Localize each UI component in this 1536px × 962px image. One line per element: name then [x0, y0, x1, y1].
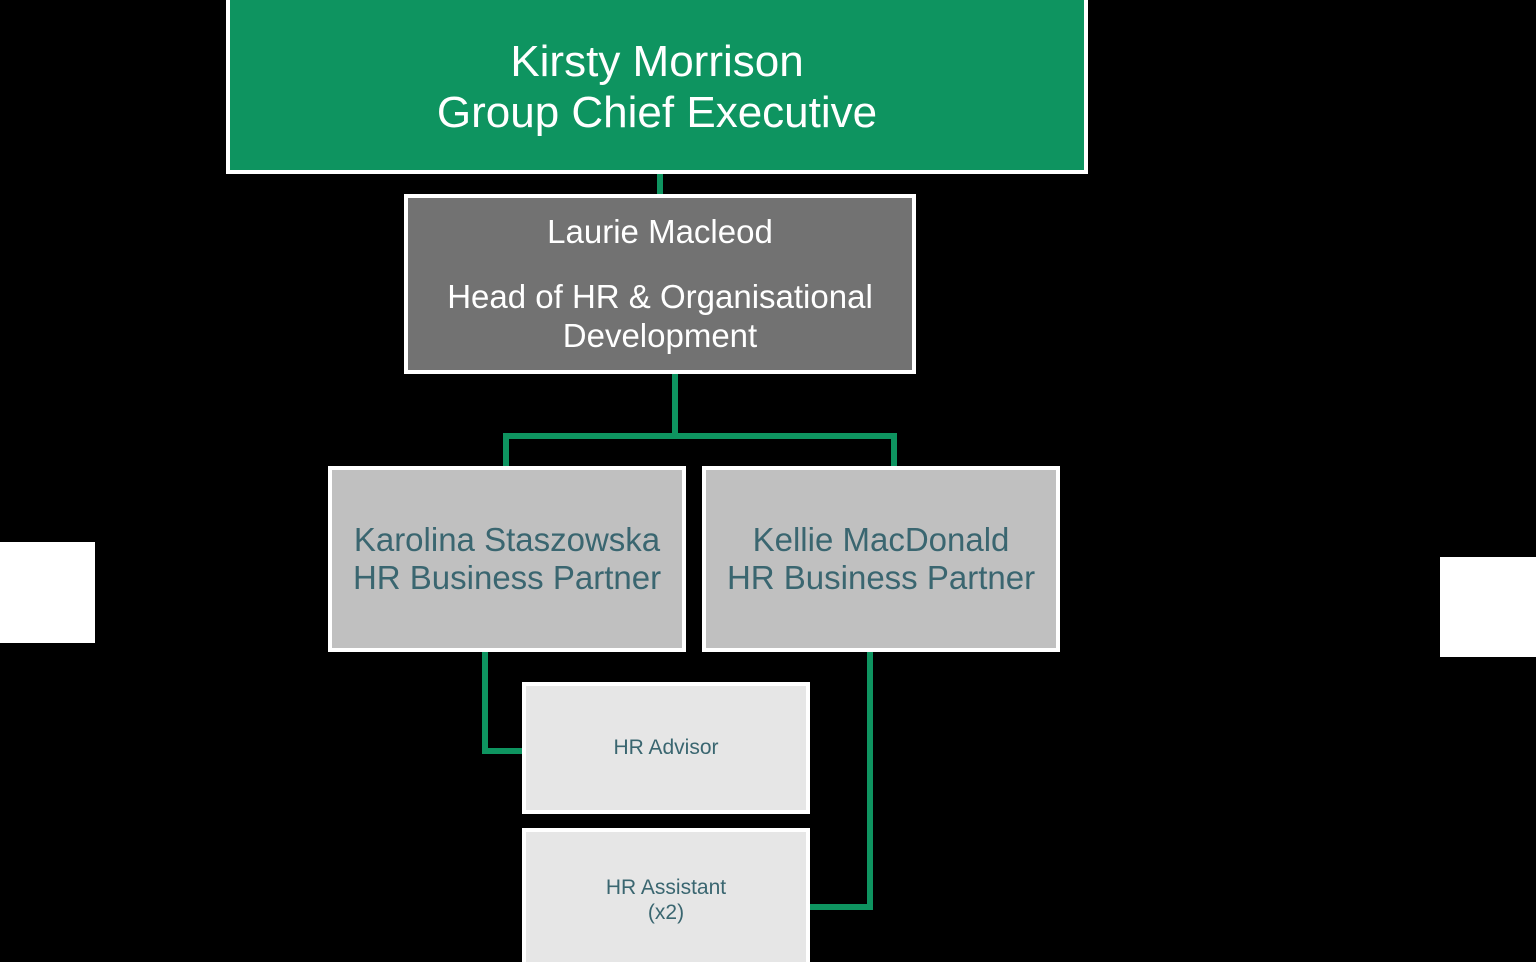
bp-left-name: Karolina Staszowska: [354, 521, 660, 559]
bp-right-name: Kellie MacDonald: [753, 521, 1010, 559]
node-head-of-hr[interactable]: Laurie Macleod Head of HR & Organisation…: [404, 194, 916, 374]
connector-bp-left-drop: [482, 650, 488, 754]
connector-bp-right-to-assistant: [808, 904, 873, 910]
org-chart-canvas: Kirsty Morrison Group Chief Executive La…: [0, 0, 1536, 962]
left-edge-block: [0, 542, 95, 643]
connector-bp-right-drop: [867, 650, 873, 910]
node-hr-business-partner-kellie[interactable]: Kellie MacDonald HR Business Partner: [702, 466, 1060, 652]
connector-ceo-to-head: [657, 172, 663, 196]
assistant-role: HR Assistant: [606, 876, 726, 900]
bp-left-role: HR Business Partner: [353, 559, 661, 597]
connector-bp-left-to-advisor: [482, 748, 526, 754]
connector-to-bp-left: [503, 433, 509, 470]
head-of-hr-name: Laurie Macleod: [547, 213, 773, 251]
assistant-count: (x2): [648, 901, 684, 925]
connector-to-bp-right: [891, 433, 897, 470]
node-hr-advisor[interactable]: HR Advisor: [522, 682, 810, 814]
node-group-chief-executive[interactable]: Kirsty Morrison Group Chief Executive: [226, 0, 1088, 174]
ceo-name: Kirsty Morrison: [510, 36, 803, 87]
bp-right-role: HR Business Partner: [727, 559, 1035, 597]
connector-head-branch-bar: [503, 433, 897, 439]
head-of-hr-role: Head of HR & Organisational Development: [410, 277, 910, 356]
right-edge-block: [1440, 557, 1536, 657]
node-hr-assistant[interactable]: HR Assistant (x2): [522, 828, 810, 962]
connector-head-stem: [672, 372, 678, 436]
node-hr-business-partner-karolina[interactable]: Karolina Staszowska HR Business Partner: [328, 466, 686, 652]
advisor-role: HR Advisor: [613, 736, 718, 760]
ceo-role: Group Chief Executive: [437, 87, 877, 138]
